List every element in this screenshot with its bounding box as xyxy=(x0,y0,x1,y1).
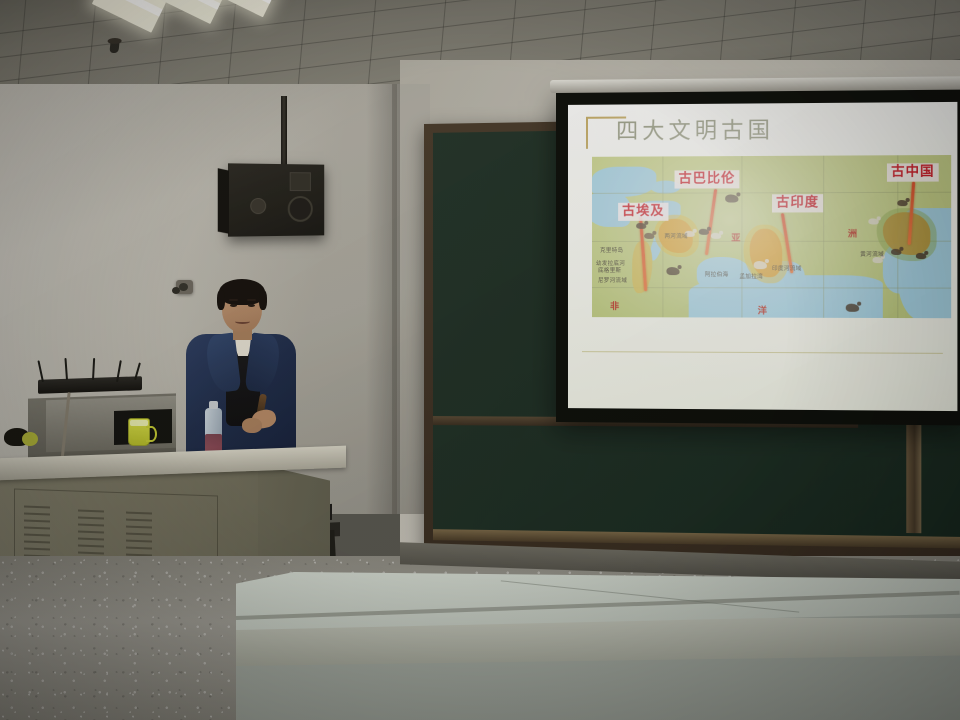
classroom-scene: △✱ — 四大文明古国 xyxy=(0,0,960,720)
eye-left xyxy=(230,304,237,307)
civilization-label-古巴比伦: 古巴比伦 xyxy=(675,170,740,189)
map-label-尼罗河流域: 尼罗河流域 xyxy=(598,279,627,285)
animal-icon-pig xyxy=(916,253,926,259)
map-gridline xyxy=(741,156,742,318)
map-label-孟加拉湾: 孟加拉湾 xyxy=(739,275,763,281)
animal-icon-camel xyxy=(644,233,654,239)
animal-icon-goat xyxy=(699,229,709,235)
animal-icon-camel xyxy=(725,194,738,202)
bottle-cap xyxy=(209,401,218,409)
hair xyxy=(219,279,265,305)
continent-label-亚: 亚 xyxy=(731,231,741,244)
civilization-label-古中国: 古中国 xyxy=(887,163,939,182)
civilization-label-古印度: 古印度 xyxy=(772,194,823,213)
slide-title-area: 四大文明古国 xyxy=(586,112,930,151)
speaker-mount-pole xyxy=(281,96,287,168)
civilization-label-古埃及: 古埃及 xyxy=(618,203,668,221)
cup-contents xyxy=(130,420,148,426)
map-label-克里特岛: 克里特岛 xyxy=(600,249,623,255)
speaker-badge-icon xyxy=(250,198,266,214)
animal-icon-camel xyxy=(666,267,679,275)
speaker-cone-icon xyxy=(288,196,313,222)
animal-icon-elephant xyxy=(754,261,767,269)
eyebrow-right xyxy=(247,299,256,301)
animal-icon-ox xyxy=(891,249,901,255)
blackboard-divider-vertical xyxy=(906,417,921,533)
speaker-tweeter-icon xyxy=(290,172,311,191)
continent-label-洋: 洋 xyxy=(758,303,768,316)
eye-right xyxy=(248,304,255,307)
animal-icon-cow xyxy=(868,218,878,224)
map-label-黄河流域: 黄河流域 xyxy=(860,253,884,259)
continent-label-洲: 洲 xyxy=(848,227,858,240)
wall-seam xyxy=(392,84,397,514)
slide-title: 四大文明古国 xyxy=(616,112,774,145)
speaker-side-panel xyxy=(218,168,229,234)
eyebrow-left xyxy=(229,299,238,301)
projection-screen: 四大文明古国 xyxy=(556,89,960,426)
wall-speaker xyxy=(228,163,324,236)
animal-icon-buffalo xyxy=(846,304,859,312)
lecturer xyxy=(186,282,296,466)
map-label-两河流域: 两河流域 xyxy=(664,235,687,241)
animal-icon-horse xyxy=(897,200,907,206)
presentation-slide: 四大文明古国 xyxy=(568,102,957,411)
mouth-smiling xyxy=(235,319,250,324)
map-label-底格里斯: 底格里斯 xyxy=(598,269,621,275)
continent-label-非: 非 xyxy=(610,299,620,312)
yellow-cup xyxy=(128,418,150,446)
map-label-印度河流域: 印度河流域 xyxy=(772,267,802,273)
world-map-image: 古埃及古巴比伦古印度古中国尼罗河流域底格里斯幼发拉底河两河流域印度河流域黄河流域… xyxy=(592,155,951,318)
map-gridline xyxy=(823,156,824,318)
hand-left xyxy=(242,418,262,433)
screen-roller xyxy=(550,76,960,93)
map-label-阿拉伯海: 阿拉伯海 xyxy=(705,273,729,279)
animal-icon-horse xyxy=(636,223,646,229)
animal-icon-cow xyxy=(711,233,721,239)
slide-divider-line xyxy=(582,351,943,354)
yellow-object xyxy=(22,432,38,446)
pointer-beam-babylon xyxy=(705,189,717,255)
map-label-幼发拉底河: 幼发拉底河 xyxy=(596,262,625,268)
